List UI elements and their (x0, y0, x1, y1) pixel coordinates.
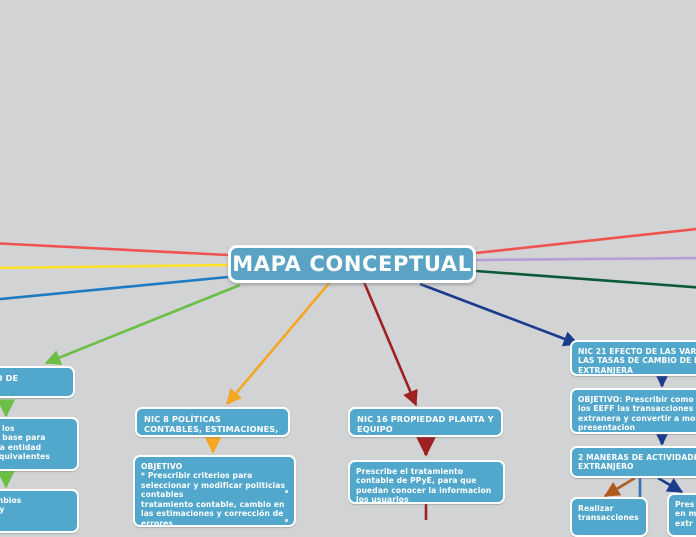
nic7-node-cambios-efectivo-label: los cambios ectivo y (0, 496, 71, 515)
edge-central-to-nic21 (420, 284, 578, 344)
central-node-label: MAPA CONCEPTUAL (232, 251, 472, 277)
edge-central-right-purple (476, 258, 696, 260)
edge-central-left-yellow (0, 265, 228, 268)
nic16-title-node[interactable]: NIC 16 PROPIEDAD PLANTA Y EQUIPO (348, 407, 503, 437)
nic16-title-label: NIC 16 PROPIEDAD PLANTA Y EQUIPO (357, 414, 494, 435)
nic21-child-presentar[interactable]: Pres en m extr (667, 493, 696, 537)
edge-central-left-blue (0, 277, 228, 300)
nic7-node-flujo-de-label: FLUJO DE (0, 373, 66, 383)
nic7-node-flujo-de[interactable]: FLUJO DE (0, 366, 75, 398)
edge-central-to-nic8 (227, 282, 330, 404)
nic21-objective-node[interactable]: OBJETIVO: Prescribir como se los EEFF la… (570, 388, 696, 434)
edge-ways-to-child1 (605, 478, 635, 496)
nic21-title-node[interactable]: NIC 21 EFECTO DE LAS VARIA LAS TASAS DE … (570, 340, 696, 376)
mindmap-canvas: MAPA CONCEPTUAL FLUJO DE strar a los FF … (0, 0, 696, 520)
nic7-node-base-evaluacion[interactable]: strar a los FF una base para ad de la en… (0, 417, 79, 471)
edge-central-to-nic7 (46, 285, 240, 363)
nic21-objective-label: OBJETIVO: Prescribir como se los EEFF la… (578, 395, 696, 433)
edge-central-left-red (0, 243, 228, 255)
nic8-objective-node[interactable]: OBJETIVO * Prescribir criterios para sel… (133, 455, 296, 527)
bullet-marker-1 (285, 490, 288, 493)
edge-central-to-nic16 (364, 282, 416, 405)
edge-central-right-darkgreen (476, 271, 696, 288)
edge-central-right-red (476, 228, 696, 253)
edge-ways-to-child2 (658, 478, 682, 492)
nic8-title-label: NIC 8 POLÍTICAS CONTABLES, ESTIMACIONES,… (144, 414, 281, 437)
nic8-objective-line1: * Prescribir criterios para seleccionar … (141, 471, 288, 499)
nic16-description-node[interactable]: Prescribe el tratamiento contable de PPy… (348, 460, 505, 504)
nic21-child-realizar-transacciones[interactable]: Realizar transacciones (570, 497, 648, 537)
nic16-description-label: Prescribe el tratamiento contable de PPy… (356, 467, 497, 504)
nic8-objective-heading: OBJETIVO (141, 462, 288, 471)
nic21-ways-node[interactable]: 2 MANERAS DE ACTIVIDADES EXTRANJERO (570, 446, 696, 478)
nic8-objective-line2: tratamiento contable, cambio en las esti… (141, 500, 288, 527)
nic7-node-cambios-efectivo[interactable]: los cambios ectivo y (0, 489, 79, 533)
central-node[interactable]: MAPA CONCEPTUAL (228, 245, 476, 283)
nic21-child-realizar-label: Realizar transacciones (578, 504, 640, 523)
bullet-marker-2 (285, 519, 288, 522)
nic21-child-presentar-label: Pres en m extr (675, 500, 696, 528)
nic21-ways-label: 2 MANERAS DE ACTIVIDADES EXTRANJERO (578, 453, 696, 472)
nic7-node-base-evaluacion-label: strar a los FF una base para ad de la en… (0, 424, 71, 462)
nic8-title-node[interactable]: NIC 8 POLÍTICAS CONTABLES, ESTIMACIONES,… (135, 407, 290, 437)
nic21-title-label: NIC 21 EFECTO DE LAS VARIA LAS TASAS DE … (578, 347, 696, 375)
